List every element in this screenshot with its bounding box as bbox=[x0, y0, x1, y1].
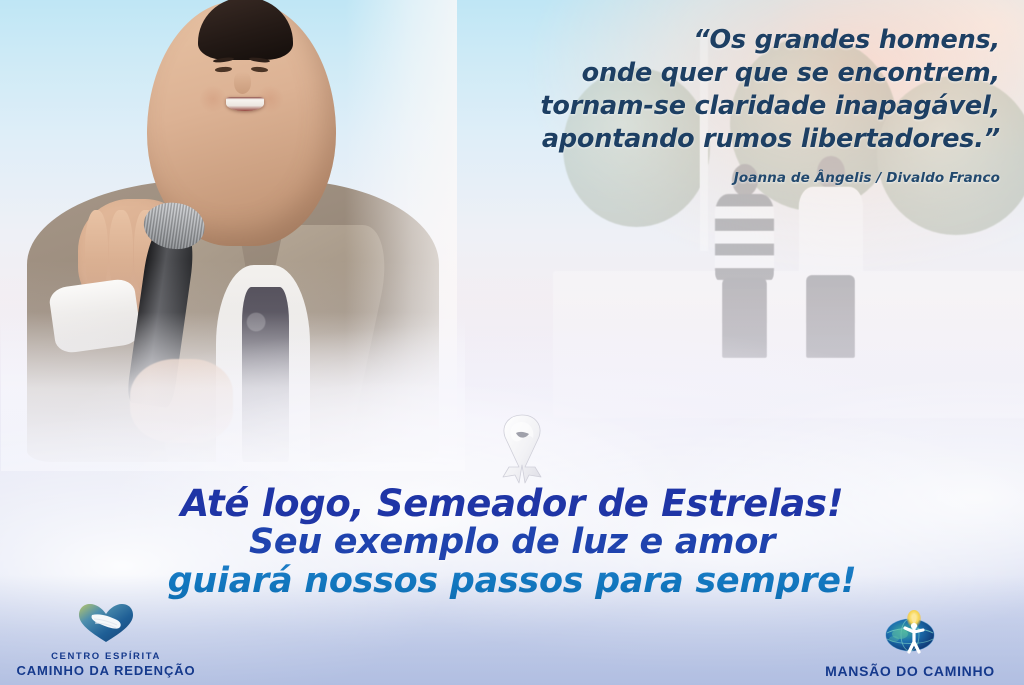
quote-line-1: “Os grandes homens, bbox=[440, 24, 1000, 57]
white-ribbon-icon bbox=[489, 409, 555, 485]
message-line-3: guiará nossos passos para sempre! bbox=[0, 563, 1024, 600]
cheek-left bbox=[200, 84, 226, 113]
logo-centro-espirita: CENTRO ESPÍRITA CAMINHO DA REDENÇÃO bbox=[8, 602, 204, 679]
message-line-2: Seu exemplo de luz e amor bbox=[0, 524, 1024, 561]
quote-attribution: Joanna de Ângelis / Divaldo Franco bbox=[440, 170, 1000, 186]
quote-line-2: onde quer que se encontrem, bbox=[440, 57, 1000, 90]
memorial-poster: “Os grandes homens, onde quer que se enc… bbox=[0, 0, 1024, 685]
quote-line-3: tornam-se claridade inapagável, bbox=[440, 90, 1000, 123]
quote-block: “Os grandes homens, onde quer que se enc… bbox=[440, 24, 1000, 157]
tribute-message: Até logo, Semeador de Estrelas! Seu exem… bbox=[0, 484, 1024, 600]
nose bbox=[234, 72, 251, 94]
portrait-hair bbox=[198, 0, 293, 60]
heart-hands-icon bbox=[8, 602, 204, 649]
globe-figure-flame-icon bbox=[806, 609, 1014, 660]
logo-left-line-2: CAMINHO DA REDENÇÃO bbox=[8, 663, 204, 679]
quote-line-4: apontando rumos libertadores.” bbox=[440, 123, 1000, 156]
logo-left-line-1: CENTRO ESPÍRITA bbox=[8, 652, 204, 663]
eye-left bbox=[215, 67, 232, 74]
logo-mansao-do-caminho: MANSÃO DO CAMINHO bbox=[806, 609, 1014, 679]
message-line-1: Até logo, Semeador de Estrelas! bbox=[0, 484, 1024, 523]
logo-right-line-1: MANSÃO DO CAMINHO bbox=[806, 663, 1014, 679]
smiling-mouth bbox=[226, 97, 264, 112]
eye-right bbox=[251, 67, 268, 74]
